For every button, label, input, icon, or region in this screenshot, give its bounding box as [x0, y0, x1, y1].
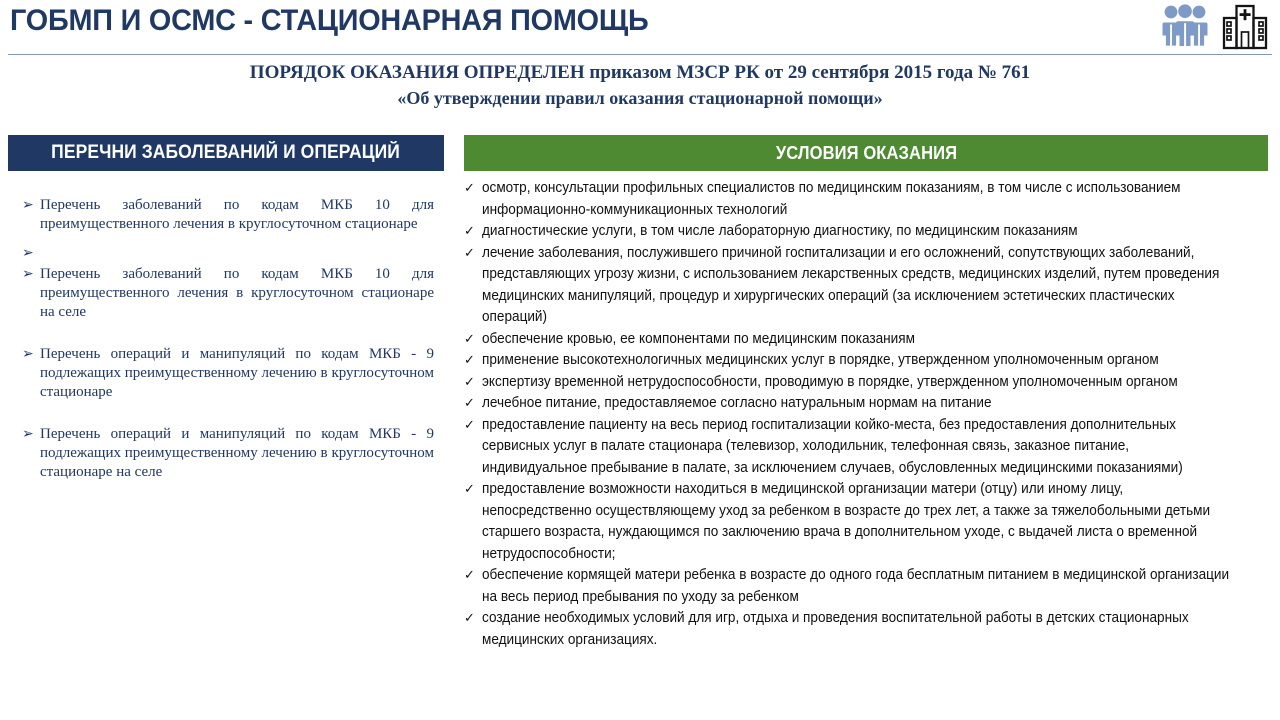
list-item[interactable]: ➢Перечень операций и манипуляций по кода… [8, 345, 448, 402]
list-item-label: обеспечение кормящей матери ребенка в во… [482, 565, 1234, 608]
list-item[interactable]: ➢Перечень заболеваний по кодам МКБ 10 дл… [8, 196, 448, 234]
list-item[interactable]: ✓обеспечение кормящей матери ребенка в в… [464, 565, 1274, 608]
list-item-label: создание необходимых условий для игр, от… [482, 608, 1234, 651]
list-item[interactable]: ➢Перечень заболеваний по кодам МКБ 10 дл… [8, 265, 448, 322]
subtitle-order-line: ПОРЯДОК ОКАЗАНИЯ ОПРЕДЕЛЕН приказом МЗСР… [0, 60, 1280, 86]
list-gap [8, 412, 448, 425]
people-group-icon [1162, 4, 1208, 51]
right-section-header-label: УСЛОВИЯ ОКАЗАНИЯ [775, 143, 956, 164]
list-item[interactable]: ✓диагностические услуги, в том числе лаб… [464, 221, 1274, 243]
arrow-bullet-icon: ➢ [8, 345, 40, 364]
header-icon-group [1162, 4, 1268, 55]
list-item[interactable]: ✓создание необходимых условий для игр, о… [464, 608, 1274, 651]
list-item-label: экспертизу временной нетрудоспособности,… [482, 372, 1234, 394]
list-item[interactable]: ✓экспертизу временной нетрудоспособности… [464, 372, 1274, 394]
checkmark-icon: ✓ [464, 415, 482, 437]
list-gap [8, 332, 448, 345]
page-title: ГОБМП И ОСМС - СТАЦИОНАРНАЯ ПОМОЩЬ [10, 4, 649, 39]
list-item[interactable]: ➢Перечень операций и манипуляций по кода… [8, 425, 448, 482]
list-item[interactable]: ✓предоставление возможности находиться в… [464, 479, 1274, 565]
list-item-label: предоставление пациенту на весь период г… [482, 415, 1234, 480]
slide-header: ГОБМП И ОСМС - СТАЦИОНАРНАЯ ПОМОЩЬ [0, 0, 1280, 122]
list-item[interactable]: ✓лечение заболевания, послужившего причи… [464, 243, 1274, 329]
left-list-container: ➢Перечень заболеваний по кодам МКБ 10 дл… [8, 196, 448, 492]
checkmark-icon: ✓ [464, 243, 482, 265]
list-item-label: Перечень операций и манипуляций по кодам… [40, 345, 448, 402]
list-item[interactable]: ✓осмотр, консультации профильных специал… [464, 178, 1274, 221]
list-item[interactable]: ✓обеспечение кровью, ее компонентами по … [464, 329, 1274, 351]
left-section-header-bar: ПЕРЕЧНИ ЗАБОЛЕВАНИЙ И ОПЕРАЦИЙ [8, 135, 444, 171]
list-item-label [40, 244, 448, 263]
list-item-label: Перечень операций и манипуляций по кодам… [40, 425, 448, 482]
left-section-header-label: ПЕРЕЧНИ ЗАБОЛЕВАНИЙ И ОПЕРАЦИЙ [52, 142, 401, 164]
checkmark-icon: ✓ [464, 608, 482, 630]
arrow-bullet-icon: ➢ [8, 265, 40, 284]
checkmark-icon: ✓ [464, 393, 482, 415]
list-item-label: Перечень заболеваний по кодам МКБ 10 для… [40, 196, 448, 234]
right-section-header-bar: УСЛОВИЯ ОКАЗАНИЯ [464, 135, 1268, 171]
list-item[interactable]: ✓предоставление пациенту на весь период … [464, 415, 1274, 480]
arrow-bullet-icon: ➢ [8, 425, 40, 444]
checkmark-icon: ✓ [464, 372, 482, 394]
subtitle-document-name: «Об утверждении правил оказания стациона… [0, 86, 1280, 110]
checkmark-icon: ✓ [464, 565, 482, 587]
list-item[interactable]: ➢ [8, 244, 448, 263]
list-item-label: лечебное питание, предоставляемое соглас… [482, 393, 1234, 415]
checkmark-icon: ✓ [464, 329, 482, 351]
checkmark-icon: ✓ [464, 350, 482, 372]
hospital-building-icon [1222, 4, 1268, 55]
list-item-label: применение высокотехнологичных медицинск… [482, 350, 1234, 372]
checkmark-icon: ✓ [464, 221, 482, 243]
arrow-bullet-icon: ➢ [8, 196, 40, 215]
subtitle-block: ПОРЯДОК ОКАЗАНИЯ ОПРЕДЕЛЕН приказом МЗСР… [0, 60, 1280, 110]
list-item-label: диагностические услуги, в том числе лабо… [482, 221, 1234, 243]
title-divider-rule [8, 54, 1272, 55]
list-item-label: лечение заболевания, послужившего причин… [482, 243, 1234, 329]
list-item[interactable]: ✓применение высокотехнологичных медицинс… [464, 350, 1274, 372]
list-item[interactable]: ✓лечебное питание, предоставляемое согла… [464, 393, 1274, 415]
list-item-label: обеспечение кровью, ее компонентами по м… [482, 329, 1234, 351]
list-item-label: осмотр, консультации профильных специали… [482, 178, 1234, 221]
right-list-container: ✓осмотр, консультации профильных специал… [464, 178, 1274, 651]
checkmark-icon: ✓ [464, 479, 482, 501]
list-item-label: Перечень заболеваний по кодам МКБ 10 для… [40, 265, 448, 322]
checkmark-icon: ✓ [464, 178, 482, 200]
arrow-bullet-icon: ➢ [8, 244, 40, 263]
list-item-label: предоставление возможности находиться в … [482, 479, 1234, 565]
